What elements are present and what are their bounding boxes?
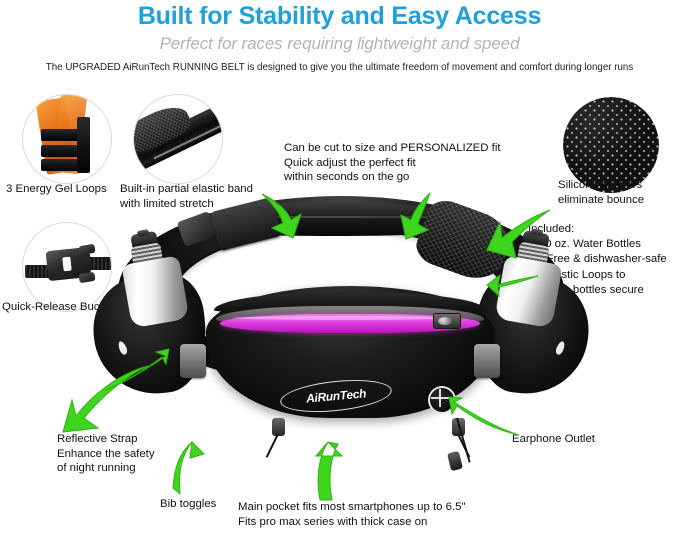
arrow-included-bottles — [486, 208, 552, 262]
arrow-belt-adjust-left — [258, 190, 306, 240]
bib-toggle-cord — [266, 434, 279, 458]
bib-toggle-left — [272, 418, 285, 436]
zipper-pull — [434, 314, 460, 328]
arrow-elastic-loop-left — [104, 348, 170, 392]
buckle-center-slot — [62, 257, 71, 272]
page-lede: The UPGRADED AiRunTech RUNNING BELT is d… — [24, 60, 655, 74]
elastic-loop-clip-right — [474, 344, 500, 378]
inset-elastic-band — [133, 94, 223, 184]
arrow-elastic-loop-right — [486, 272, 540, 298]
callout-personalized-fit: Can be cut to size and PERSONALIZED fit … — [284, 141, 544, 185]
gel-loop-backing — [77, 117, 90, 173]
callout-main-pocket: Main pocket fits most smartphones up to … — [238, 500, 568, 529]
arrow-bib-toggle — [172, 440, 206, 496]
inset-energy-gel-loops — [22, 94, 112, 184]
bottle-body — [121, 255, 189, 328]
holster-drain-hole — [554, 340, 566, 356]
page-title: Built for Stability and Easy Access — [0, 2, 679, 30]
arrow-main-pocket — [306, 440, 346, 502]
callout-gel-loops: 3 Energy Gel Loops — [6, 182, 136, 197]
page-subtitle: Perfect for races requiring lightweight … — [0, 33, 679, 55]
arrow-belt-adjust-right — [392, 190, 436, 240]
elastic-loop-clip-left — [180, 344, 206, 378]
infographic-canvas: Built for Stability and Easy Access Perf… — [0, 0, 679, 535]
reflective-strap-highlight — [232, 316, 454, 320]
arrow-earphone-outlet — [448, 396, 518, 438]
brand-logo: AiRunTech — [280, 379, 392, 413]
